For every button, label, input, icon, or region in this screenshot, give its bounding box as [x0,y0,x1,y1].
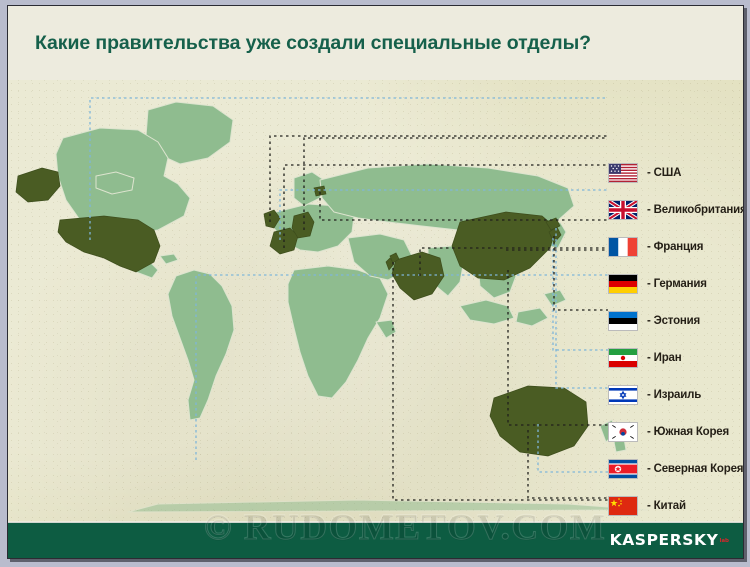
slide-root: Какие правительства уже создали специаль… [0,0,750,567]
country-iran [392,252,444,300]
flag-france-icon [608,237,638,257]
legend-item-china[interactable]: - Китай [608,495,686,517]
page-title: Какие правительства уже создали специаль… [35,32,725,55]
flag-south-korea-icon [608,422,638,442]
flag-germany-icon [608,274,638,294]
legend-item-south-korea[interactable]: - Южная Корея [608,421,729,443]
country-usa [58,216,160,272]
legend-label: - США [647,167,681,179]
flag-iran-icon [608,348,638,368]
footer-bar: KASPERSKYlab [8,522,743,559]
kaspersky-logo: KASPERSKYlab [610,531,729,549]
legend-label: - Иран [647,352,681,364]
flag-estonia-icon [608,311,638,331]
legend-label: - Южная Корея [647,426,729,438]
world-map [8,80,743,521]
flag-usa-icon [608,163,638,183]
flag-north-korea-icon [608,459,638,479]
legend-item-iran[interactable]: - Иран [608,347,681,369]
legend-label: - Китай [647,500,686,512]
legend-label: - Эстония [647,315,700,327]
flag-china-icon [608,496,638,516]
legend-label: - Германия [647,278,707,290]
legend-label: - Франция [647,241,703,253]
legend-label: - Великобритания [647,204,743,216]
slide-frame: Какие правительства уже создали специаль… [7,5,744,559]
legend-item-germany[interactable]: - Германия [608,273,707,295]
map-panel: - США - Великобритания [8,80,743,521]
country-china [452,212,556,280]
legend-item-usa[interactable]: - США [608,162,681,184]
flag-uk-icon [608,200,638,220]
flag-israel-icon [608,385,638,405]
country-australia [490,386,588,456]
country-usa-alaska [16,168,60,202]
legend-label: - Северная Корея [647,463,743,475]
legend-item-north-korea[interactable]: - Северная Корея [608,458,743,480]
legend-label: - Израиль [647,389,701,401]
country-germany [292,212,314,238]
legend-item-estonia[interactable]: - Эстония [608,310,700,332]
legend-item-uk[interactable]: - Великобритания [608,199,743,221]
kaspersky-wordmark: KASPERSKY [610,531,719,549]
legend-item-israel[interactable]: - Израиль [608,384,701,406]
legend-item-france[interactable]: - Франция [608,236,703,258]
kaspersky-lab-mark: lab [719,539,729,544]
title-band: Какие правительства уже создали специаль… [8,6,743,80]
